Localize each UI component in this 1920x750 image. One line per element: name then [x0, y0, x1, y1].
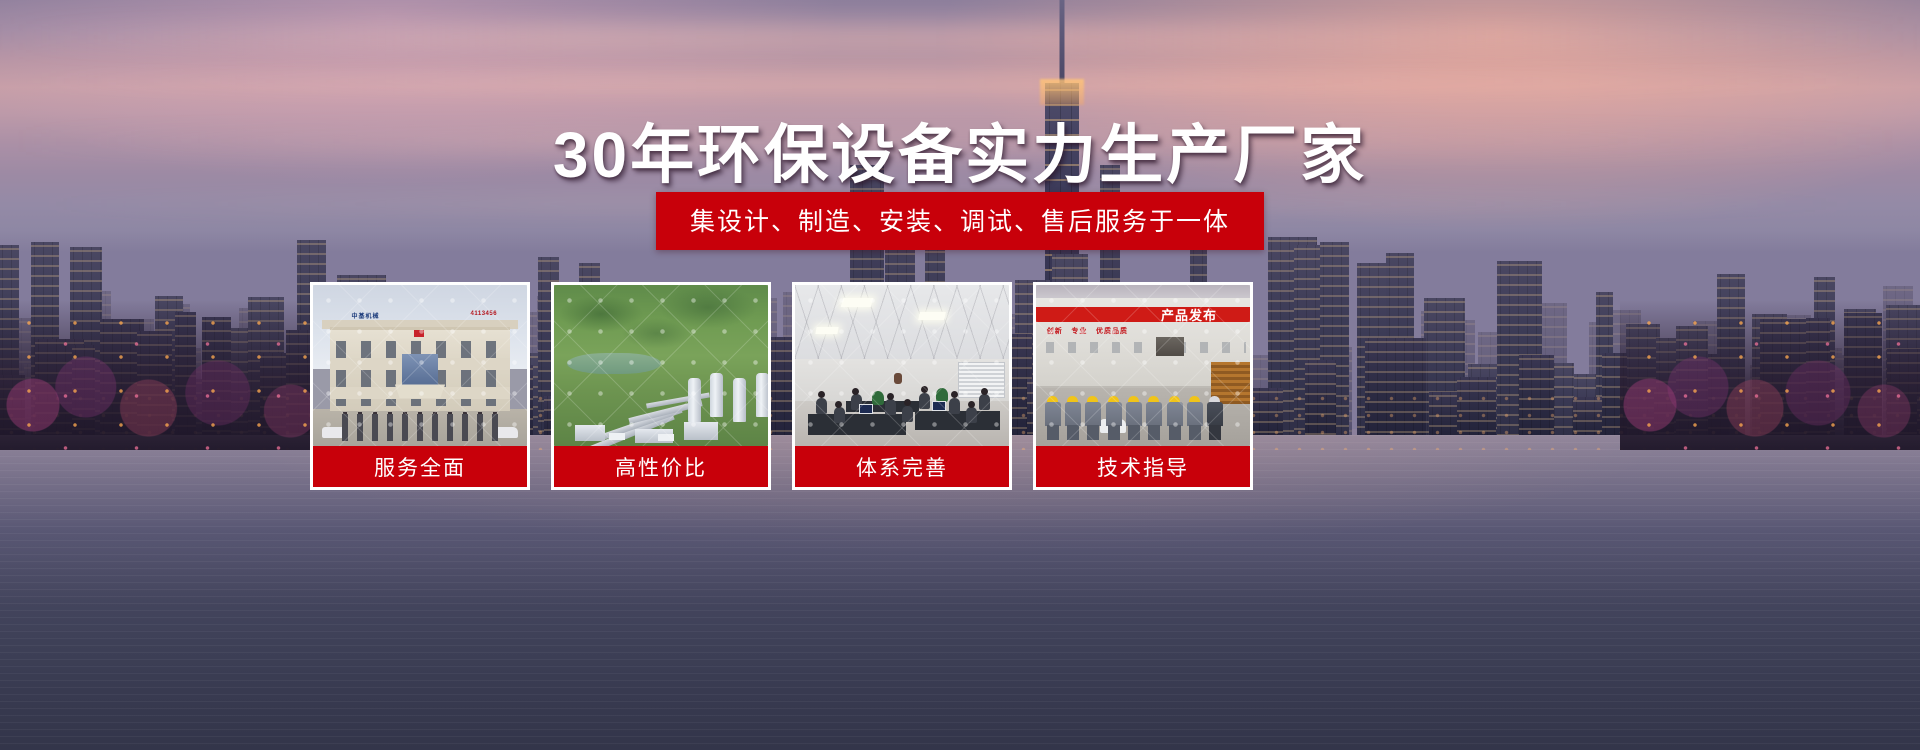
card-photo-factory-workers: 产品发布 创新 专业 优质品质 [1033, 282, 1253, 446]
factory-worker [1065, 396, 1081, 440]
worker-legs [1108, 425, 1120, 440]
plant-silo [710, 373, 723, 417]
feature-card-list: 中基机械 4113456 服务全面 [310, 282, 1253, 490]
feature-card[interactable]: 中基机械 4113456 服务全面 [310, 282, 530, 490]
factory-supervisor [1207, 396, 1223, 440]
factory-worker [1085, 396, 1101, 440]
photo-layers: 中基机械 4113456 [313, 285, 527, 446]
wall-slogan-mid: 专业 [1071, 326, 1087, 336]
photo-industrial-plant [571, 362, 759, 443]
plant-truck [609, 433, 625, 440]
plant-truck [658, 434, 674, 441]
plant-warehouse [575, 425, 605, 441]
wall-slogan-text: 创新 专业 优质品质 [1042, 324, 1132, 338]
card-label: 服务全面 [310, 446, 530, 490]
office-worker-head [904, 399, 911, 406]
factory-worker [1045, 396, 1061, 440]
worker-uniform [1167, 402, 1183, 426]
office-worker [966, 407, 977, 423]
ceiling-light-panel [816, 327, 839, 334]
card-label: 体系完善 [792, 446, 1012, 490]
photo-factory-door [1156, 337, 1184, 356]
photo-portico [395, 384, 445, 398]
factory-worker [1126, 396, 1142, 440]
worker-legs [1209, 425, 1221, 440]
office-worker [949, 398, 960, 414]
office-worker-head [968, 401, 975, 408]
banner-content: 30年环保设备实力生产厂家 集设计、制造、安装、调试、售后服务于一体 [0, 0, 1920, 750]
photo-ceiling-grid [795, 285, 1009, 359]
wall-slogan-left: 创新 [1047, 326, 1063, 336]
ceiling-light-panel [841, 298, 874, 307]
office-worker [919, 393, 930, 409]
office-desk [808, 414, 906, 435]
photo-wall-figure [894, 373, 902, 384]
plant-silo [733, 378, 746, 422]
worker-uniform [1045, 402, 1061, 426]
card-photo-aerial-plant [551, 282, 771, 446]
office-worker [885, 399, 896, 415]
wall-slogan-right: 优质品质 [1096, 326, 1128, 336]
card-label: 技术指导 [1033, 446, 1253, 490]
photo-layers [554, 285, 768, 446]
worker-uniform [1146, 402, 1162, 426]
worker-legs [1189, 425, 1201, 440]
banner-subtitle-wrapper: 集设计、制造、安装、调试、售后服务于一体 [0, 192, 1920, 250]
worker-legs [1047, 425, 1059, 440]
office-worker [979, 394, 990, 410]
worker-uniform [1085, 402, 1101, 426]
desk-monitor [859, 404, 873, 414]
office-worker-head [981, 388, 988, 395]
photo-factory-windows [1040, 342, 1245, 353]
worker-uniform [1187, 402, 1203, 426]
factory-worker [1167, 396, 1183, 440]
feature-card[interactable]: 产品发布 创新 专业 优质品质 [1033, 282, 1253, 490]
plant-silo [756, 373, 769, 417]
banner-headline: 30年环保设备实力生产厂家 [0, 104, 1920, 196]
feature-card[interactable]: 高性价比 [551, 282, 771, 490]
banner-subtitle: 集设计、制造、安装、调试、售后服务于一体 [656, 192, 1264, 250]
worker-uniform [1207, 402, 1223, 426]
worker-legs [1128, 425, 1140, 440]
building-phone-text: 4113456 [471, 311, 498, 317]
factory-worker [1187, 396, 1203, 440]
plant-warehouse [684, 422, 718, 440]
factory-worker [1146, 396, 1162, 440]
office-worker [816, 398, 827, 414]
potted-plant [872, 391, 884, 405]
hero-banner: 30年环保设备实力生产厂家 集设计、制造、安装、调试、售后服务于一体 [0, 0, 1920, 750]
photo-staff-row [339, 414, 502, 441]
worker-uniform [1065, 402, 1081, 426]
photo-building [330, 327, 510, 411]
office-worker [902, 406, 913, 422]
worker-uniform [1126, 402, 1142, 426]
ceiling-light-panel [918, 312, 946, 320]
worker-uniform [1106, 402, 1122, 426]
desk-monitor [932, 401, 946, 411]
worker-legs [1148, 425, 1160, 440]
photo-layers: 产品发布 创新 专业 优质品质 [1036, 285, 1250, 446]
card-photo-office-building: 中基机械 4113456 [310, 282, 530, 446]
office-worker [834, 407, 845, 423]
worker-legs [1169, 425, 1181, 440]
worker-legs [1087, 425, 1099, 440]
feature-card[interactable]: 体系完善 [792, 282, 1012, 490]
photo-flag [414, 330, 424, 337]
wall-headline-text: 产品发布 [1134, 308, 1243, 321]
factory-worker [1106, 396, 1122, 440]
card-label: 高性价比 [551, 446, 771, 490]
photo-wall-decor [881, 366, 915, 390]
building-sign-text: 中基机械 [352, 311, 380, 320]
office-worker-head [951, 391, 958, 398]
plant-silo [688, 378, 701, 422]
card-photo-office-interior [792, 282, 1012, 446]
office-worker-head [887, 393, 894, 400]
worker-legs [1067, 425, 1079, 440]
photo-layers [795, 285, 1009, 446]
